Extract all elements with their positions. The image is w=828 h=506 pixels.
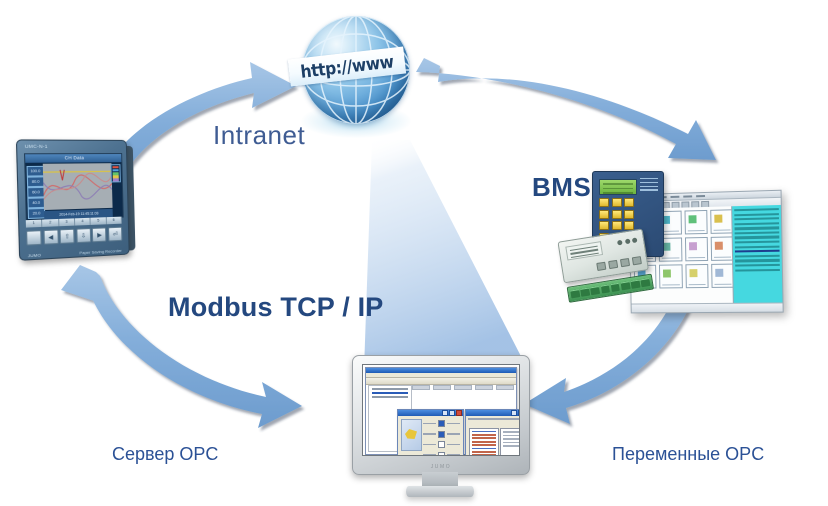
recorder-key-down-icon[interactable]: ⇩: [76, 228, 91, 243]
tree-item[interactable]: [735, 264, 780, 267]
tree-item[interactable]: [734, 208, 779, 211]
label-opc-server: Сервер OPC: [112, 445, 218, 463]
plc-status-leds: [617, 237, 638, 245]
tree-item[interactable]: [735, 227, 780, 230]
recorder-screen: CН Data 100.0 80.0 60.0 40.0 20.0: [24, 153, 124, 221]
recorder-screen-title: CН Data: [25, 154, 121, 163]
recorder-key-menu[interactable]: [26, 230, 42, 245]
tree-item[interactable]: [735, 236, 780, 239]
floorplan-room[interactable]: [710, 209, 734, 234]
menu-item[interactable]: [683, 195, 692, 197]
tree-item[interactable]: [734, 217, 779, 220]
recorder-body: UMC-N-1 CН Data 100.0 80.0 60.0 40.0 20.…: [16, 139, 130, 261]
recorder-key-right-icon[interactable]: ▶: [92, 227, 107, 242]
bms-key[interactable]: [612, 221, 622, 230]
checkbox[interactable]: [438, 441, 445, 448]
dialog-body: [466, 416, 520, 456]
recorder-legend: [110, 164, 120, 182]
key-icon: [405, 429, 417, 439]
plc-label: [565, 241, 603, 260]
tree-item[interactable]: [735, 245, 780, 248]
bms-key[interactable]: [624, 221, 634, 230]
recorder-brand: JUMO: [28, 252, 41, 258]
tree-item-selected[interactable]: [735, 250, 780, 253]
opc-tag-browser-dialog[interactable]: [465, 409, 520, 456]
plc-ports: [596, 256, 642, 271]
menu-item[interactable]: [696, 195, 705, 197]
bms-key[interactable]: [599, 198, 609, 207]
dialog-body: [398, 416, 463, 456]
recorder-keypad[interactable]: ◀ ⇧ ⇩ ▶ ⏎: [26, 227, 122, 246]
bms-key[interactable]: [612, 210, 622, 219]
floorplan-room[interactable]: [685, 264, 708, 288]
label-modbus-tcp-ip: Modbus TCP / IP: [168, 294, 384, 321]
bms-key[interactable]: [624, 210, 634, 219]
recorder-tab[interactable]: 6: [106, 217, 122, 225]
bms-side-indicators: [640, 178, 658, 194]
checkbox[interactable]: [438, 452, 445, 457]
label-opc-variables: Переменные OPC: [612, 445, 764, 463]
recorder-channel: 20.0: [28, 208, 46, 219]
monitor-base: [406, 486, 474, 497]
floorplan-room[interactable]: [684, 237, 707, 261]
recorder-channel: 100.0: [27, 166, 45, 177]
column-headers[interactable]: [412, 385, 514, 389]
tree-item[interactable]: [734, 213, 779, 216]
opc-server-monitor: JUMO: [352, 355, 528, 501]
paperless-recorder: UMC-N-1 CН Data 100.0 80.0 60.0 40.0 20.…: [16, 139, 140, 262]
bms-lcd-display: [599, 179, 637, 195]
trend-curves-icon: [43, 163, 113, 210]
bms-key[interactable]: [612, 198, 622, 207]
recorder-tab[interactable]: 3: [59, 218, 75, 226]
recorder-key-left-icon[interactable]: ◀: [43, 229, 58, 244]
tag-tree[interactable]: [469, 428, 499, 456]
monitor-brand: JUMO: [353, 464, 529, 470]
recorder-channel: 60.0: [27, 187, 45, 198]
dialog-fields: [423, 420, 460, 456]
recorder-trend-plot: [43, 163, 113, 210]
diagram-canvas: http://www UMC-N-1 CН Data 100.0 80.0 60…: [0, 0, 828, 506]
label-bms: BMS: [532, 174, 591, 200]
dialog-illustration: [401, 419, 422, 451]
recorder-tab[interactable]: 1: [26, 220, 43, 228]
label-intranet: Intranet: [213, 122, 305, 148]
floorplan-room[interactable]: [711, 264, 735, 288]
tree-item[interactable]: [735, 268, 780, 271]
recorder-tab[interactable]: 5: [91, 217, 107, 225]
arrow-recorder-to-monitor: [61, 265, 302, 428]
tag-detail-pane: [500, 428, 520, 456]
scada-statusbar: [632, 302, 783, 312]
recorder-key-enter-icon[interactable]: ⏎: [108, 227, 122, 242]
recorder-channel: 40.0: [27, 197, 45, 208]
window-toolbar[interactable]: [366, 378, 516, 385]
menu-item[interactable]: [671, 196, 680, 198]
tree-item[interactable]: [735, 241, 780, 244]
recorder-model: Paper Saving Recorder: [79, 248, 121, 255]
bms-key[interactable]: [599, 210, 609, 219]
monitor-screen: [362, 364, 520, 456]
floorplan-room[interactable]: [684, 210, 707, 234]
arrow-globe-to-bms: [416, 58, 716, 160]
checkbox[interactable]: [438, 420, 445, 427]
checkbox[interactable]: [438, 431, 445, 438]
recorder-tab[interactable]: 4: [75, 218, 91, 226]
opc-configuration-dialog[interactable]: [397, 409, 464, 456]
tree-item[interactable]: [735, 259, 780, 262]
tree-item[interactable]: [735, 255, 780, 258]
recorder-header: UMC-N-1: [23, 144, 123, 153]
recorder-key-up-icon[interactable]: ⇧: [60, 229, 75, 244]
tree-item[interactable]: [735, 231, 780, 234]
scada-tag-tree[interactable]: [731, 205, 782, 304]
bms-key[interactable]: [624, 198, 634, 207]
monitor-bezel: JUMO: [352, 355, 530, 475]
recorder-channel: 80.0: [27, 176, 45, 187]
recorder-tab[interactable]: 2: [42, 219, 59, 227]
globe: http://www: [293, 12, 419, 138]
bms-key[interactable]: [599, 221, 609, 230]
tree-item[interactable]: [734, 222, 779, 225]
floorplan-room[interactable]: [710, 236, 734, 261]
floorplan-room[interactable]: [659, 264, 682, 288]
